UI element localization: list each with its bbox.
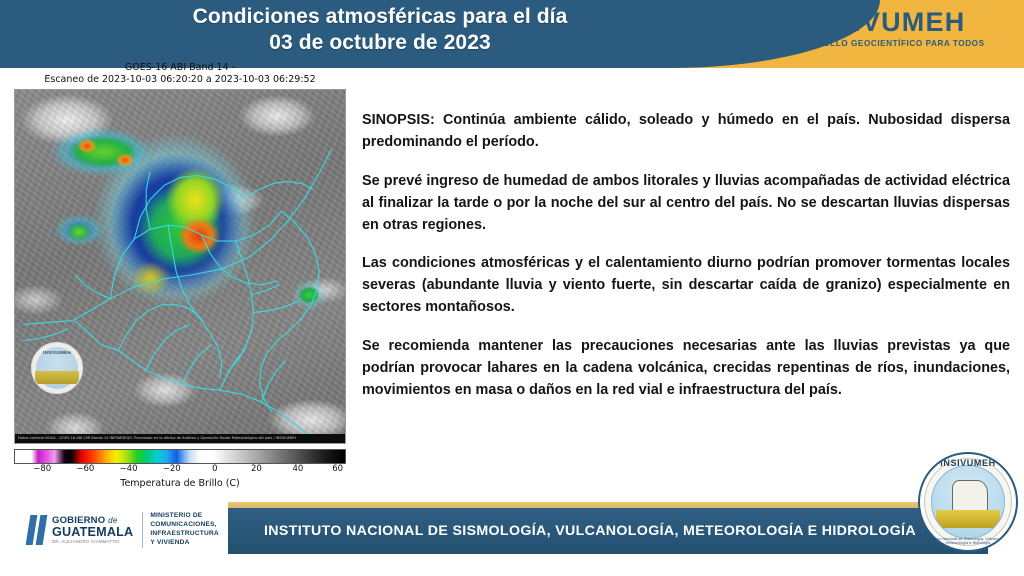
satellite-credit-strip: Datos cortesía NOAA - GOES-16 ABI CMI Ba… bbox=[15, 434, 345, 443]
flag-bars-icon bbox=[28, 515, 45, 545]
satellite-caption-line1: GOES-16 ABI Band 14 - bbox=[125, 62, 235, 73]
ministerio-line4: Y VIVIENDA bbox=[150, 539, 219, 548]
insivumeh-logo-name: INSIVUMEH bbox=[762, 9, 1008, 36]
guatemala-word: GUATEMALA bbox=[52, 526, 133, 539]
synopsis-paragraph-2: Se prevé ingreso de humedad de ambos lit… bbox=[362, 171, 1010, 237]
seal-top-text: INSIVUMEH bbox=[920, 458, 1016, 468]
gobierno-text: GOBIERNO de GUATEMALA DR. ALEJANDRO GIAM… bbox=[52, 516, 133, 544]
gobierno-subtitle: DR. ALEJANDRO GIAMMATTEI bbox=[52, 540, 133, 544]
colorbar-tick-3: −20 bbox=[163, 464, 181, 474]
page-title-line2: 03 de octubre de 2023 bbox=[0, 30, 760, 56]
seal-inner-face bbox=[931, 465, 1005, 539]
colorbar-tick-7: 60 bbox=[332, 464, 343, 474]
colorbar-axis-label: Temperatura de Brillo (C) bbox=[14, 478, 346, 489]
ministerio-line2: COMUNICACIONES, bbox=[150, 521, 219, 530]
colorbar-tick-0: −80 bbox=[33, 464, 51, 474]
watermark-label: INSIVUMEH bbox=[32, 350, 82, 355]
gobierno-de: de bbox=[108, 516, 117, 525]
footer-institute-name: INSTITUTO NACIONAL DE SISMOLOGÍA, VULCAN… bbox=[228, 508, 988, 554]
colorbar-tick-2: −40 bbox=[120, 464, 138, 474]
ministerio-block: MINISTERIO DE COMUNICACIONES, INFRAESTRU… bbox=[142, 512, 219, 548]
colorbar-tick-6: 40 bbox=[292, 464, 303, 474]
page-title-line1: Condiciones atmosféricas para el día bbox=[193, 5, 568, 28]
gobierno-guatemala-logo: GOBIERNO de GUATEMALA DR. ALEJANDRO GIAM… bbox=[28, 508, 224, 552]
satellite-image[interactable]: INSIVUMEH Datos cortesía NOAA - GOES-16 … bbox=[14, 89, 346, 444]
satellite-caption: GOES-16 ABI Band 14 - Escaneo de 2023-10… bbox=[14, 62, 346, 86]
satellite-panel: GOES-16 ABI Band 14 - Escaneo de 2023-10… bbox=[14, 62, 346, 489]
ministerio-line3: INFRAESTRUCTURA bbox=[150, 530, 219, 539]
colorbar-ticks: −80 −60 −40 −20 0 20 40 60 bbox=[14, 464, 346, 478]
satellite-caption-line2: Escaneo de 2023-10-03 06:20:20 a 2023-10… bbox=[14, 74, 346, 86]
colorbar-tick-1: −60 bbox=[76, 464, 94, 474]
insivumeh-logo-tagline: DESARROLLO GEOCIENTÍFICO PARA TODOS bbox=[762, 39, 1008, 48]
colorbar-legend: −80 −60 −40 −20 0 20 40 60 Temperatura d… bbox=[14, 449, 346, 489]
colorbar-gradient bbox=[14, 449, 346, 464]
synopsis-paragraph-4: Se recomienda mantener las precauciones … bbox=[362, 336, 1010, 402]
page-title: Condiciones atmosféricas para el día 03 … bbox=[0, 4, 760, 55]
colorbar-tick-4: 0 bbox=[212, 464, 217, 474]
page-footer: GOBIERNO de GUATEMALA DR. ALEJANDRO GIAM… bbox=[0, 502, 1024, 554]
synopsis-paragraph-1: SINOPSIS: Continúa ambiente cálido, sole… bbox=[362, 110, 1010, 154]
synopsis-paragraph-3: Las condiciones atmosféricas y el calent… bbox=[362, 253, 1010, 319]
page-header: Condiciones atmosféricas para el día 03 … bbox=[0, 0, 1024, 68]
watermark-band bbox=[35, 371, 79, 384]
seal-gold-band bbox=[936, 510, 1000, 528]
satellite-watermark-seal: INSIVUMEH bbox=[31, 342, 83, 394]
insivumeh-logo: INSIVUMEH DESARROLLO GEOCIENTÍFICO PARA … bbox=[762, 9, 1008, 48]
ministerio-line1: MINISTERIO DE bbox=[150, 512, 219, 521]
footer-institute-bar: INSTITUTO NACIONAL DE SISMOLOGÍA, VULCAN… bbox=[228, 508, 988, 554]
satellite-credit-text: Datos cortesía NOAA - GOES-16 ABI CMI Ba… bbox=[15, 434, 345, 443]
colorbar-tick-5: 20 bbox=[251, 464, 262, 474]
insivumeh-seal: INSIVUMEH Instituto Nacional de Sismolog… bbox=[918, 452, 1018, 552]
seal-bottom-text: Instituto Nacional de Sismología, Vulcan… bbox=[920, 537, 1016, 545]
synopsis-text: SINOPSIS: Continúa ambiente cálido, sole… bbox=[362, 110, 1010, 402]
